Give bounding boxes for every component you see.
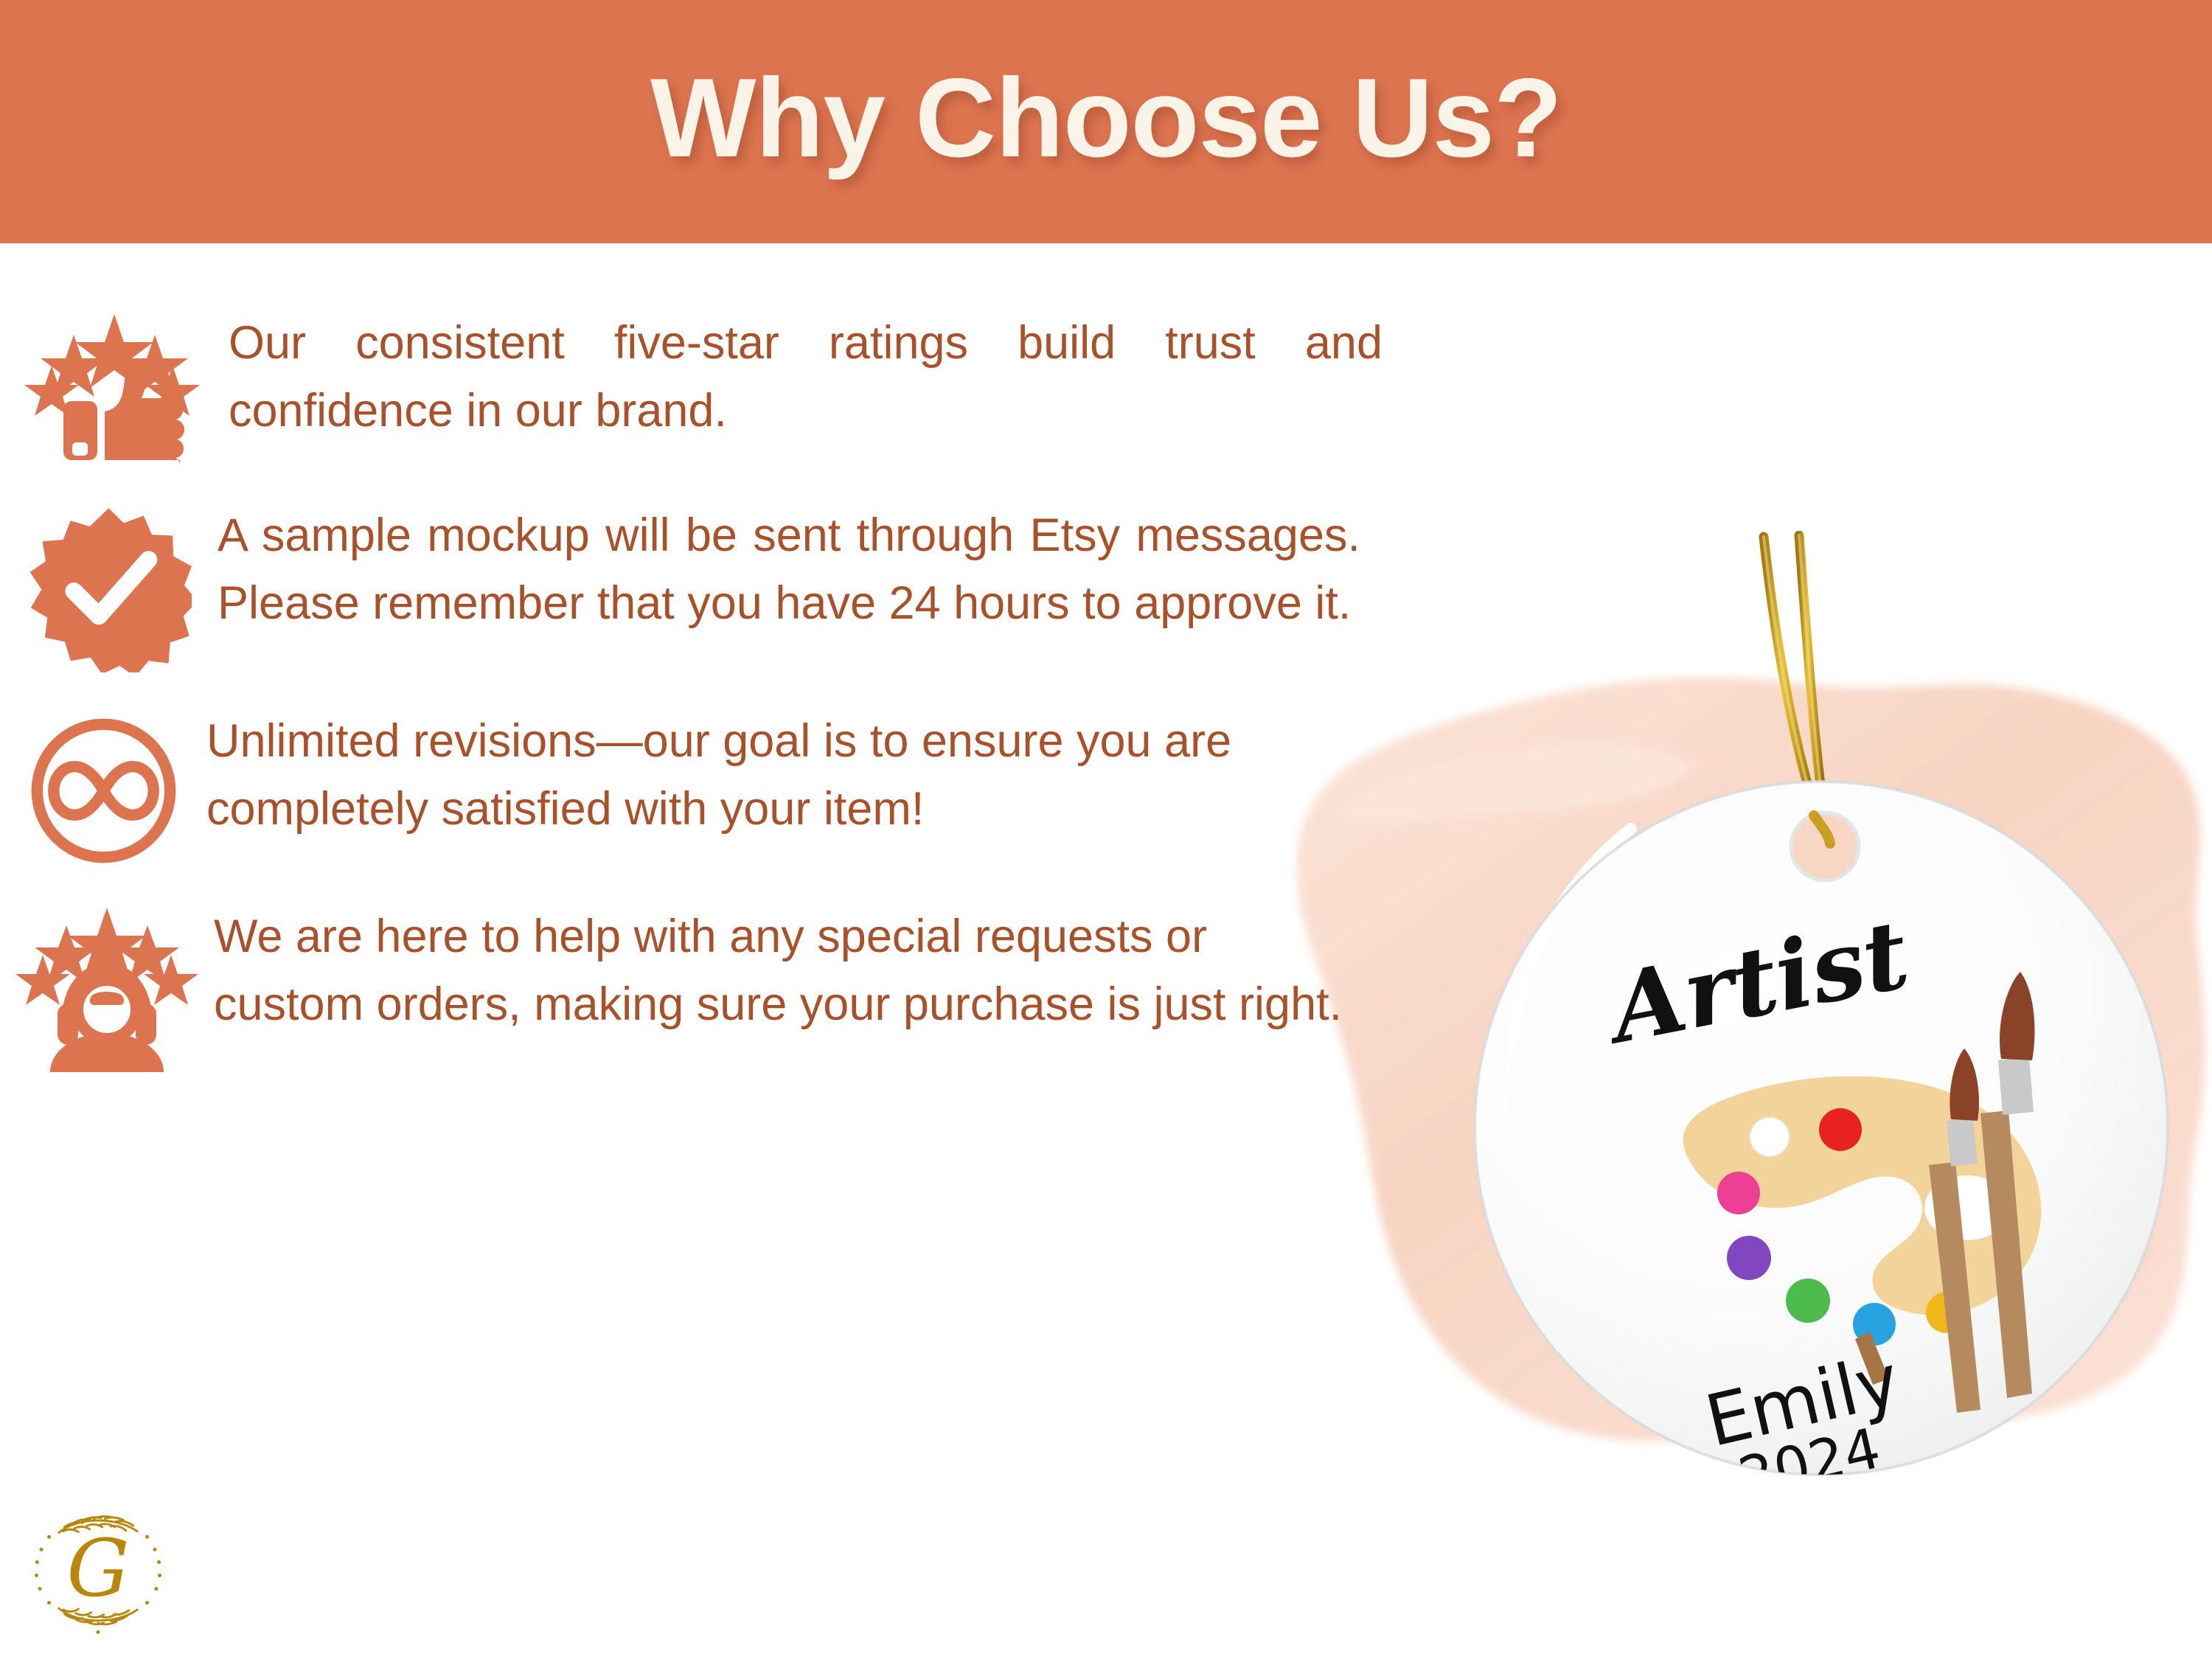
feature-icon-slot bbox=[0, 708, 206, 866]
feature-text: Our consistent five-star ratings build t… bbox=[229, 310, 1382, 445]
brand-logo-letter: G bbox=[67, 1523, 130, 1615]
paint-dot-purple bbox=[1727, 1236, 1771, 1280]
paint-dot-red bbox=[1819, 1108, 1862, 1151]
page-title: Why Choose Us? bbox=[650, 62, 1562, 181]
feature-text: Unlimited revisions—our goal is to ensur… bbox=[206, 708, 1364, 844]
feature-text: A sample mockup will be sent through Ets… bbox=[218, 502, 1360, 638]
feature-list: Our consistent five-star ratings build t… bbox=[0, 310, 1475, 1118]
feature-text: We are here to help with any special req… bbox=[214, 903, 1360, 1039]
feature-item: A sample mockup will be sent through Ets… bbox=[0, 502, 1475, 672]
paint-dot-green bbox=[1786, 1279, 1830, 1323]
header-banner: Why Choose Us? bbox=[0, 0, 2212, 243]
feature-item: Our consistent five-star ratings build t… bbox=[0, 310, 1475, 464]
paint-dot-pink bbox=[1717, 1172, 1760, 1214]
feature-icon-slot bbox=[0, 310, 229, 464]
paint-dot-white bbox=[1750, 1117, 1790, 1157]
five-star-thumbs-up-icon bbox=[22, 313, 206, 464]
feature-icon-slot bbox=[0, 903, 214, 1072]
feature-item: We are here to help with any special req… bbox=[0, 903, 1475, 1072]
feature-icon-slot bbox=[0, 502, 218, 672]
artist-ornament-product-image: Artist Emily bbox=[1430, 531, 2212, 1519]
customer-support-stars-icon bbox=[15, 906, 199, 1072]
brand-logo-monogram: G bbox=[28, 1500, 168, 1641]
verified-badge-check-icon bbox=[26, 507, 192, 672]
infinity-circle-icon bbox=[28, 715, 179, 866]
feature-item: Unlimited revisions—our goal is to ensur… bbox=[0, 708, 1475, 866]
gold-cord-hanger bbox=[1764, 535, 1824, 815]
